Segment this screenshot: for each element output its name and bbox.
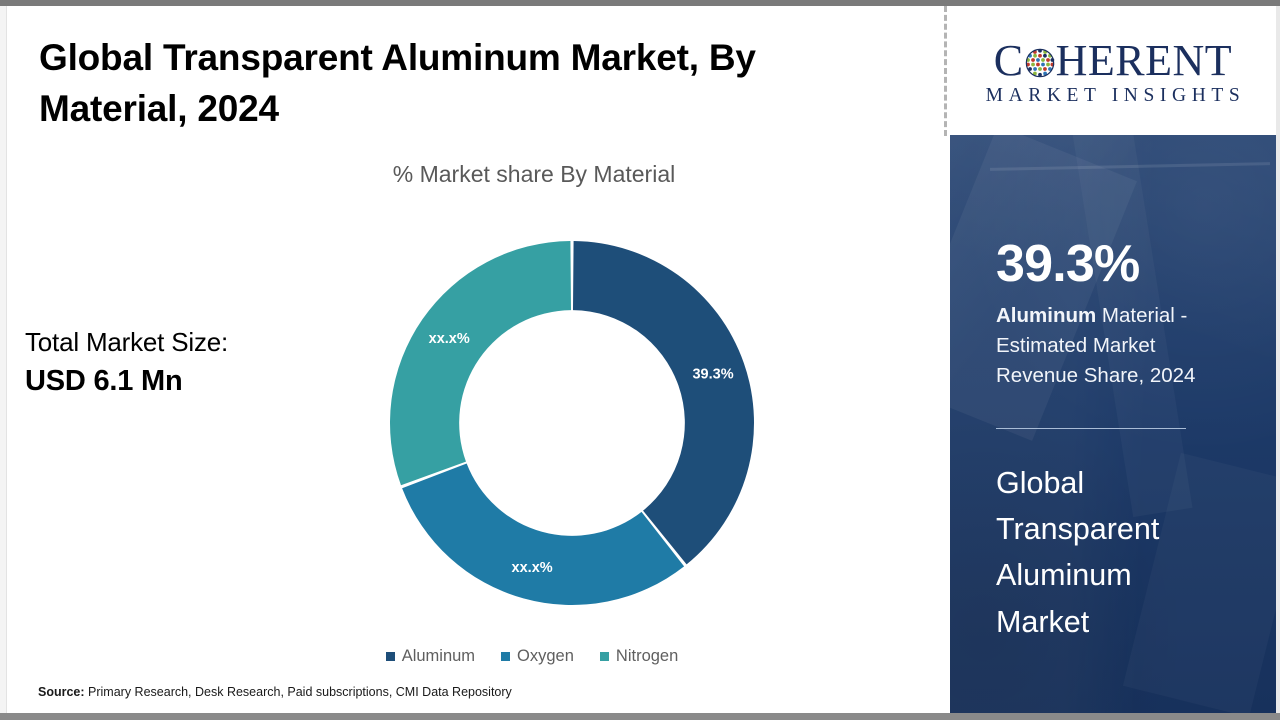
source-note: Source: Primary Research, Desk Research,… [38,685,512,699]
legend-item-nitrogen[interactable]: Nitrogen [600,647,678,666]
donut-chart-svg: 39.3%xx.x%xx.x% [377,228,767,618]
donut-label-nitrogen: xx.x% [429,331,470,347]
panel-streak-c [990,162,1270,171]
logo-wordmark-rest: HERENT [1056,39,1233,83]
chart-subtitle: % Market share By Material [7,161,945,188]
side-highlight-panel: 39.3% Aluminum Material - Estimated Mark… [950,135,1276,713]
donut-slice-nitrogen[interactable] [390,241,571,485]
page-title: Global Transparent Aluminum Market, By M… [39,32,819,134]
logo-wordmark-primary: C [963,39,1263,83]
donut-slice-group [390,241,754,605]
logo-wordmark-secondary: MARKET INSIGHTS [963,85,1263,107]
legend-label-nitrogen: Nitrogen [616,647,678,666]
total-market-size-label: Total Market Size: [25,324,355,362]
source-label: Source: [38,685,85,699]
legend-item-oxygen[interactable]: Oxygen [501,647,574,666]
panel-stat-description: Aluminum Material - Estimated Market Rev… [996,301,1230,391]
frame-right-border [1276,6,1280,713]
panel-stat-description-emphasis: Aluminum [996,304,1096,327]
frame-left-border [0,6,7,713]
donut-label-aluminum: 39.3% [692,367,733,383]
donut-chart: 39.3%xx.x%xx.x% [377,228,767,618]
legend-label-aluminum: Aluminum [402,647,475,666]
main-content-area: Global Transparent Aluminum Market, By M… [7,6,945,713]
coherent-market-insights-logo: C [963,35,1263,107]
brand-logo-box: C [950,6,1276,135]
legend-swatch-aluminum [386,652,395,661]
globe-dots-icon [1025,48,1055,78]
frame-bottom-border [0,713,1280,720]
donut-slice-oxygen[interactable] [402,463,684,605]
source-text: Primary Research, Desk Research, Paid su… [88,685,512,699]
legend-label-oxygen: Oxygen [517,647,574,666]
chart-legend: AluminumOxygenNitrogen [7,647,945,666]
legend-swatch-nitrogen [600,652,609,661]
total-market-size-value: USD 6.1 Mn [25,362,355,401]
panel-content: 39.3% Aluminum Material - Estimated Mark… [950,238,1276,645]
donut-slice-aluminum[interactable] [573,241,754,564]
infographic-canvas: Global Transparent Aluminum Market, By M… [0,0,1280,720]
legend-item-aluminum[interactable]: Aluminum [386,647,475,666]
logo-letter-c: C [994,39,1024,83]
legend-swatch-oxygen [501,652,510,661]
panel-divider-rule [996,428,1186,429]
total-market-size-block: Total Market Size: USD 6.1 Mn [25,324,355,401]
panel-market-name: Global Transparent Aluminum Market [996,460,1230,645]
panel-stat-value: 39.3% [996,238,1230,290]
donut-label-oxygen: xx.x% [512,560,553,576]
